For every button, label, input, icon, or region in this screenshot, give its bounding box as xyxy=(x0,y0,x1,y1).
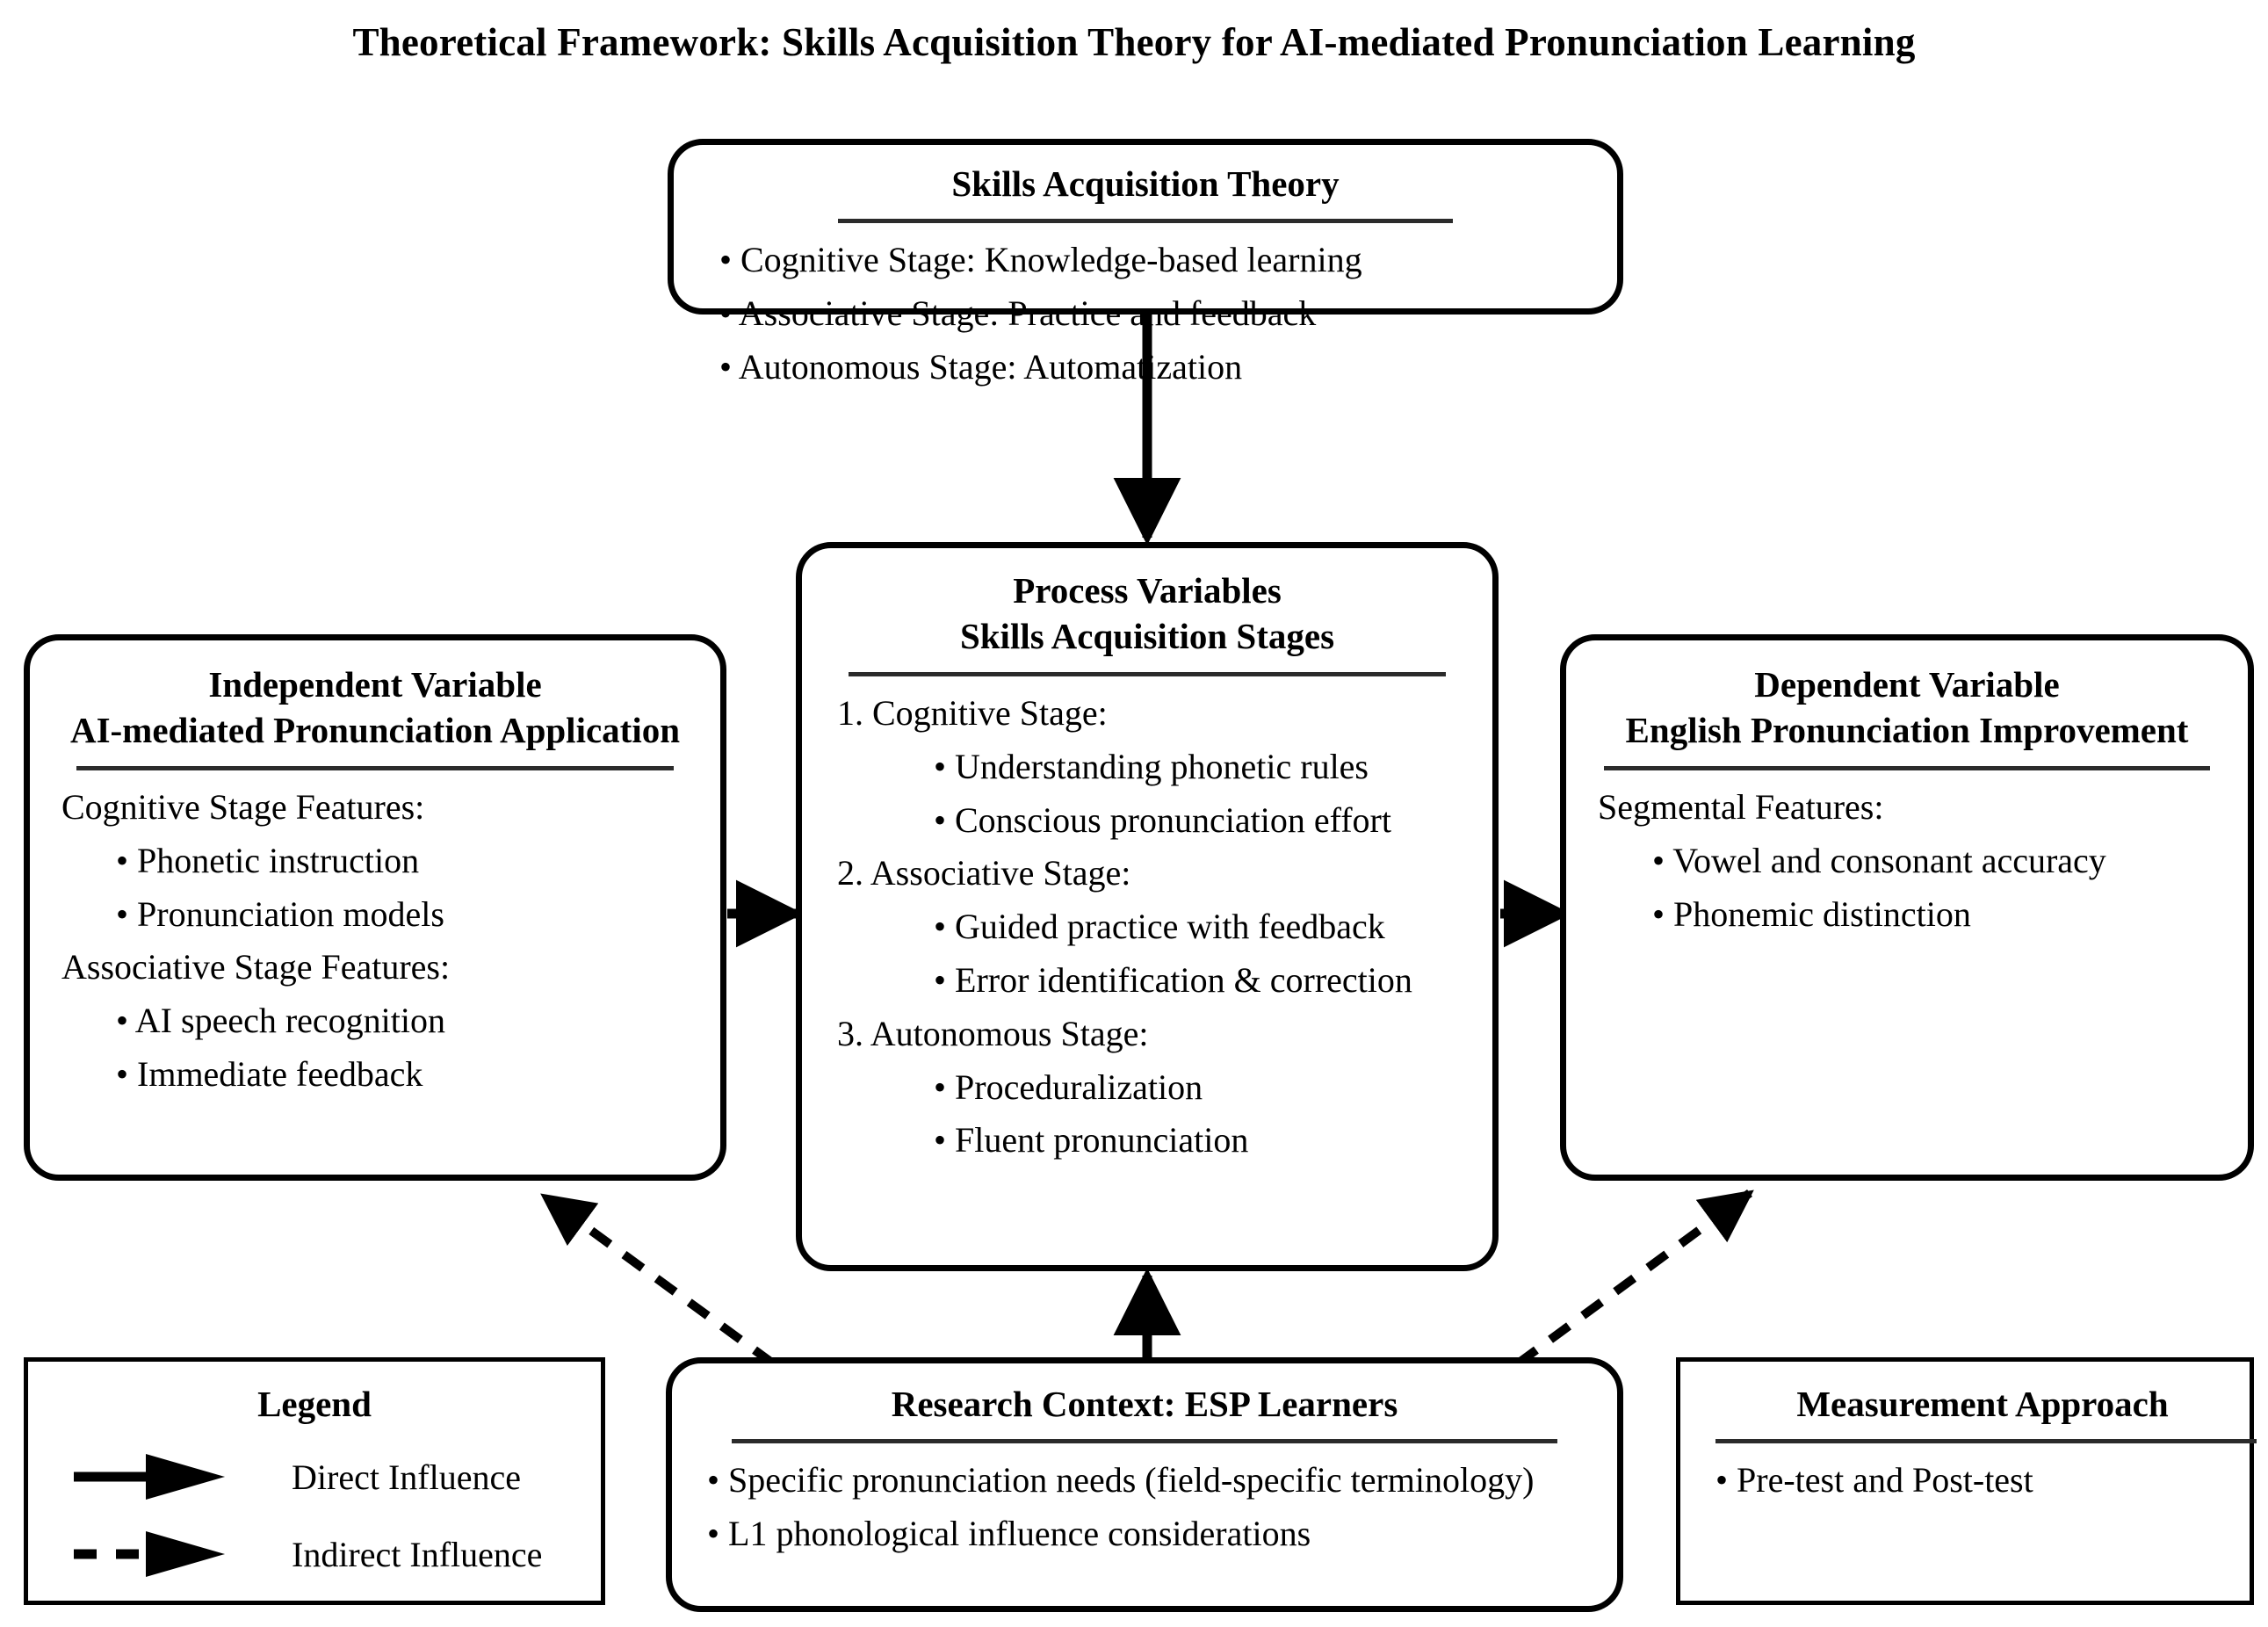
independent-line-3: • Pronunciation models xyxy=(61,888,689,942)
process-line-3: • Conscious pronunciation effort xyxy=(837,794,1457,848)
independent-line-1: Cognitive Stage Features: xyxy=(61,781,689,835)
theory-title: Skills Acquisition Theory xyxy=(719,161,1571,206)
box-process-variables: Process Variables Skills Acquisition Sta… xyxy=(796,542,1499,1271)
measurement-line-1: • Pre-test and Post-test xyxy=(1715,1454,2250,1508)
dependent-subtitle: English Pronunciation Improvement xyxy=(1598,707,2216,753)
box-research-context: Research Context: ESP Learners • Specifi… xyxy=(666,1357,1623,1612)
process-line-4: 2. Associative Stage: xyxy=(837,847,1457,900)
dashed-arrow-icon xyxy=(28,1528,292,1580)
process-line-9: • Fluent pronunciation xyxy=(837,1114,1457,1168)
theory-divider xyxy=(838,219,1453,223)
legend-label-indirect: Indirect Influence xyxy=(292,1534,542,1575)
dependent-line-2: • Vowel and consonant accuracy xyxy=(1598,835,2216,888)
process-line-1: 1. Cognitive Stage: xyxy=(837,687,1457,741)
page-title: Theoretical Framework: Skills Acquisitio… xyxy=(0,19,2268,65)
context-line-2: • L1 phonological influence consideratio… xyxy=(707,1508,1582,1561)
independent-line-2: • Phonetic instruction xyxy=(61,835,689,888)
legend-item-direct: Direct Influence xyxy=(28,1450,601,1504)
process-title: Process Variables xyxy=(837,568,1457,613)
dependent-line-3: • Phonemic distinction xyxy=(1598,888,2216,942)
independent-line-6: • Immediate feedback xyxy=(61,1048,689,1102)
context-title: Research Context: ESP Learners xyxy=(707,1381,1582,1427)
legend-title: Legend xyxy=(28,1381,601,1427)
independent-title: Independent Variable xyxy=(61,662,689,707)
independent-divider xyxy=(76,766,674,770)
theory-line-2: • Associative Stage: Practice and feedba… xyxy=(719,287,1571,341)
connector-context-to-independent xyxy=(545,1197,773,1363)
process-line-6: • Error identification & correction xyxy=(837,954,1457,1008)
process-divider xyxy=(849,672,1446,676)
theory-line-1: • Cognitive Stage: Knowledge-based learn… xyxy=(719,234,1571,287)
measurement-title: Measurement Approach xyxy=(1715,1381,2250,1427)
independent-line-5: • AI speech recognition xyxy=(61,994,689,1048)
connector-context-to-dependent xyxy=(1518,1193,1750,1363)
diagram-canvas: Theoretical Framework: Skills Acquisitio… xyxy=(0,0,2268,1627)
box-dependent-variable: Dependent Variable English Pronunciation… xyxy=(1560,634,2254,1181)
legend-item-indirect: Indirect Influence xyxy=(28,1527,601,1581)
legend-label-direct: Direct Influence xyxy=(292,1457,521,1498)
dependent-title: Dependent Variable xyxy=(1598,662,2216,707)
process-line-2: • Understanding phonetic rules xyxy=(837,741,1457,794)
measurement-divider xyxy=(1715,1439,2257,1443)
process-line-8: • Proceduralization xyxy=(837,1061,1457,1115)
dependent-line-1: Segmental Features: xyxy=(1598,781,2216,835)
process-line-7: 3. Autonomous Stage: xyxy=(837,1008,1457,1061)
box-legend: Legend Direct Influence Indir xyxy=(24,1357,605,1605)
independent-line-4: Associative Stage Features: xyxy=(61,941,689,994)
context-line-1: • Specific pronunciation needs (field-sp… xyxy=(707,1454,1582,1508)
dependent-divider xyxy=(1604,766,2210,770)
process-subtitle: Skills Acquisition Stages xyxy=(837,613,1457,659)
box-skills-acquisition-theory: Skills Acquisition Theory • Cognitive St… xyxy=(668,139,1623,315)
independent-subtitle: AI-mediated Pronunciation Application xyxy=(61,707,689,753)
solid-arrow-icon xyxy=(28,1450,292,1503)
theory-line-3: • Autonomous Stage: Automatization xyxy=(719,341,1571,394)
box-measurement-approach: Measurement Approach • Pre-test and Post… xyxy=(1676,1357,2254,1605)
box-independent-variable: Independent Variable AI-mediated Pronunc… xyxy=(24,634,726,1181)
process-line-5: • Guided practice with feedback xyxy=(837,900,1457,954)
context-divider xyxy=(732,1439,1557,1443)
